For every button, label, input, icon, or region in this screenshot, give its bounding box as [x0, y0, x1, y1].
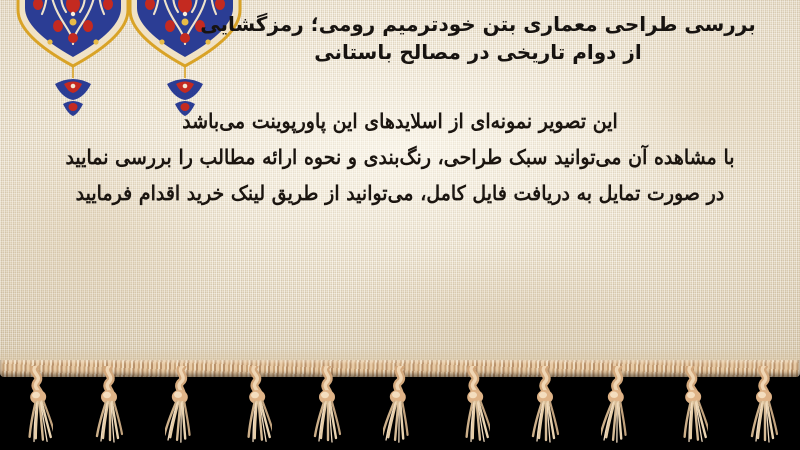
fringe-tassel	[19, 366, 53, 450]
fringe-tassel	[747, 366, 781, 450]
slide-body-text: این تصویر نمونه‌ای از اسلایدهای این پاور…	[24, 112, 776, 220]
fringe-tassel	[310, 366, 344, 450]
slide-title-line-1: بررسی طراحی معماری بتن خودترمیم رومی؛ رم…	[178, 10, 778, 38]
fringe-tassel	[92, 366, 126, 450]
fringe-tassel	[601, 366, 635, 450]
fringe-tassel	[238, 366, 272, 450]
body-line-2: با مشاهده آن می‌توانید سبک طراحی، رنگ‌بن…	[24, 148, 776, 168]
fringe-tassel	[165, 366, 199, 450]
canvas-paper-background: بررسی طراحی معماری بتن خودترمیم رومی؛ رم…	[0, 0, 800, 378]
carpet-fringe-band	[0, 360, 800, 450]
body-line-1: این تصویر نمونه‌ای از اسلایدهای این پاور…	[24, 112, 776, 132]
persian-medallion-ornament-left	[8, 0, 138, 120]
fringe-tassel	[383, 366, 417, 450]
slide-title-line-2: از دوام تاریخی در مصالح باستانی	[178, 38, 778, 66]
fringe-tassel	[674, 366, 708, 450]
fringe-tassel	[456, 366, 490, 450]
fringe-tassel	[528, 366, 562, 450]
slide-title: بررسی طراحی معماری بتن خودترمیم رومی؛ رم…	[178, 10, 778, 67]
body-line-3: در صورت تمایل به دریافت فایل کامل، می‌تو…	[24, 184, 776, 204]
presentation-slide: بررسی طراحی معماری بتن خودترمیم رومی؛ رم…	[0, 0, 800, 450]
